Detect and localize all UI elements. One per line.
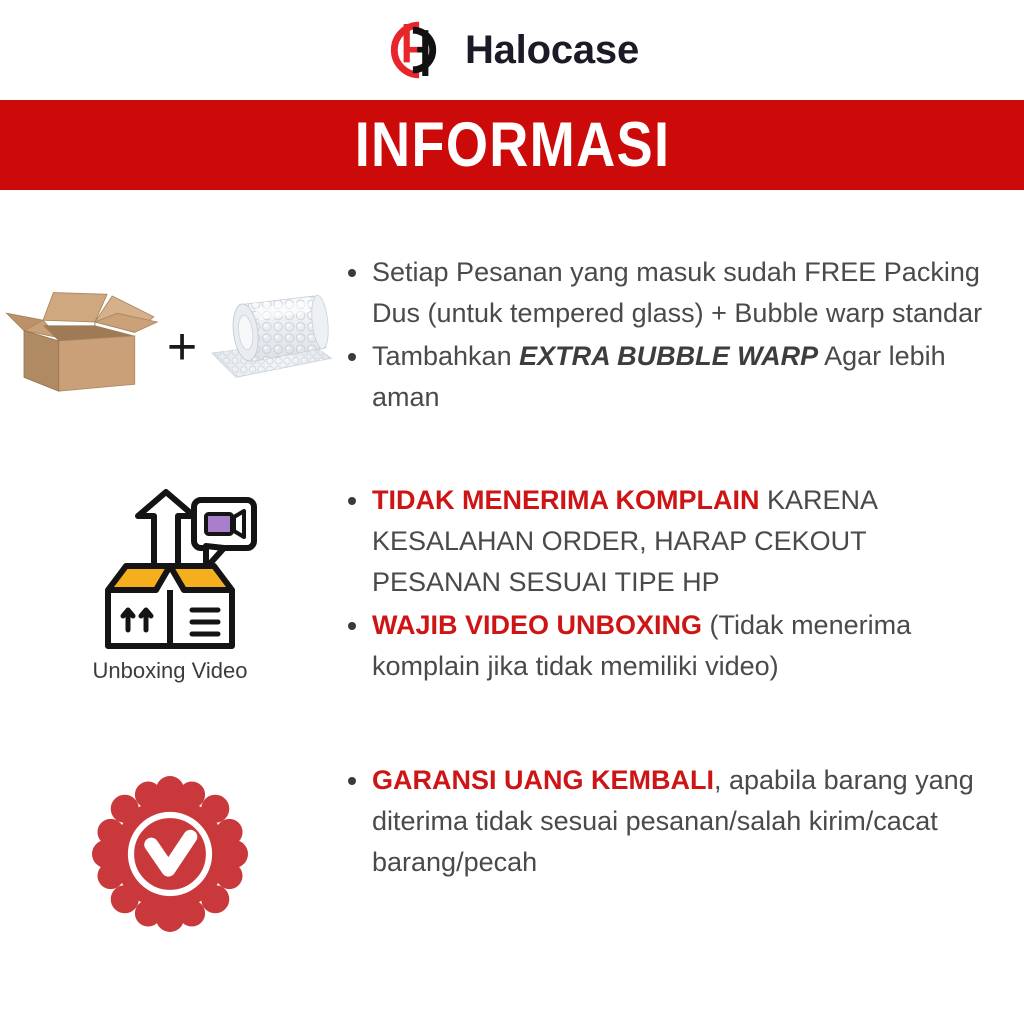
packing-bullet-list: Setiap Pesanan yang masuk sudah FREE Pac… bbox=[340, 252, 990, 418]
unboxing-video-caption: Unboxing Video bbox=[93, 660, 248, 682]
warranty-bullet-list: GARANSI UANG KEMBALI, apabila barang yan… bbox=[340, 760, 990, 883]
bubble-wrap-roll-icon bbox=[205, 279, 335, 403]
unboxing-bullet-list: TIDAK MENERIMA KOMPLAIN KARENA KESALAHAN… bbox=[340, 480, 990, 687]
section-warranty: GARANSI UANG KEMBALI, apabila barang yan… bbox=[0, 760, 1024, 960]
bullet-text: Setiap Pesanan yang masuk sudah FREE Pac… bbox=[372, 257, 982, 328]
unboxing-text-column: TIDAK MENERIMA KOMPLAIN KARENA KESALAHAN… bbox=[340, 480, 1024, 689]
bullet-emphasis: TIDAK MENERIMA KOMPLAIN bbox=[372, 485, 759, 515]
list-item: TIDAK MENERIMA KOMPLAIN KARENA KESALAHAN… bbox=[372, 480, 990, 603]
bullet-emphasis: EXTRA BUBBLE WARP bbox=[519, 341, 818, 371]
information-poster: Halocase INFORMASI bbox=[0, 0, 1024, 1024]
list-item: Setiap Pesanan yang masuk sudah FREE Pac… bbox=[372, 252, 990, 334]
unboxing-icon-column: Unboxing Video bbox=[0, 480, 340, 682]
money-back-guarantee-badge-icon bbox=[92, 776, 248, 932]
unboxing-video-box-icon bbox=[82, 486, 258, 656]
brand-name: Halocase bbox=[465, 30, 639, 70]
section-packing: + bbox=[0, 252, 1024, 472]
informasi-banner: INFORMASI bbox=[0, 100, 1024, 190]
brand-header: Halocase bbox=[0, 0, 1024, 100]
bullet-emphasis: GARANSI UANG KEMBALI bbox=[372, 765, 714, 795]
halocase-h-circle-logo-icon bbox=[385, 19, 447, 81]
list-item: GARANSI UANG KEMBALI, apabila barang yan… bbox=[372, 760, 990, 883]
bullet-emphasis: WAJIB VIDEO UNBOXING bbox=[372, 610, 702, 640]
banner-title: INFORMASI bbox=[354, 114, 670, 177]
sections-container: + bbox=[0, 190, 1024, 1024]
cardboard-box-plus-bubble-wrap-icon: + bbox=[5, 266, 335, 416]
warranty-icon-column bbox=[0, 760, 340, 932]
plus-icon: + bbox=[165, 321, 199, 373]
list-item: Tambahkan EXTRA BUBBLE WARP Agar lebih a… bbox=[372, 336, 990, 418]
list-item: WAJIB VIDEO UNBOXING (Tidak menerima kom… bbox=[372, 605, 990, 687]
packing-text-column: Setiap Pesanan yang masuk sudah FREE Pac… bbox=[340, 252, 1024, 420]
packing-icon-column: + bbox=[0, 252, 340, 416]
bullet-text: Tambahkan bbox=[372, 341, 519, 371]
warranty-text-column: GARANSI UANG KEMBALI, apabila barang yan… bbox=[340, 760, 1024, 885]
cardboard-box-icon bbox=[5, 275, 159, 407]
section-unboxing: Unboxing Video TIDAK MENERIMA KOMPLAIN K… bbox=[0, 480, 1024, 720]
